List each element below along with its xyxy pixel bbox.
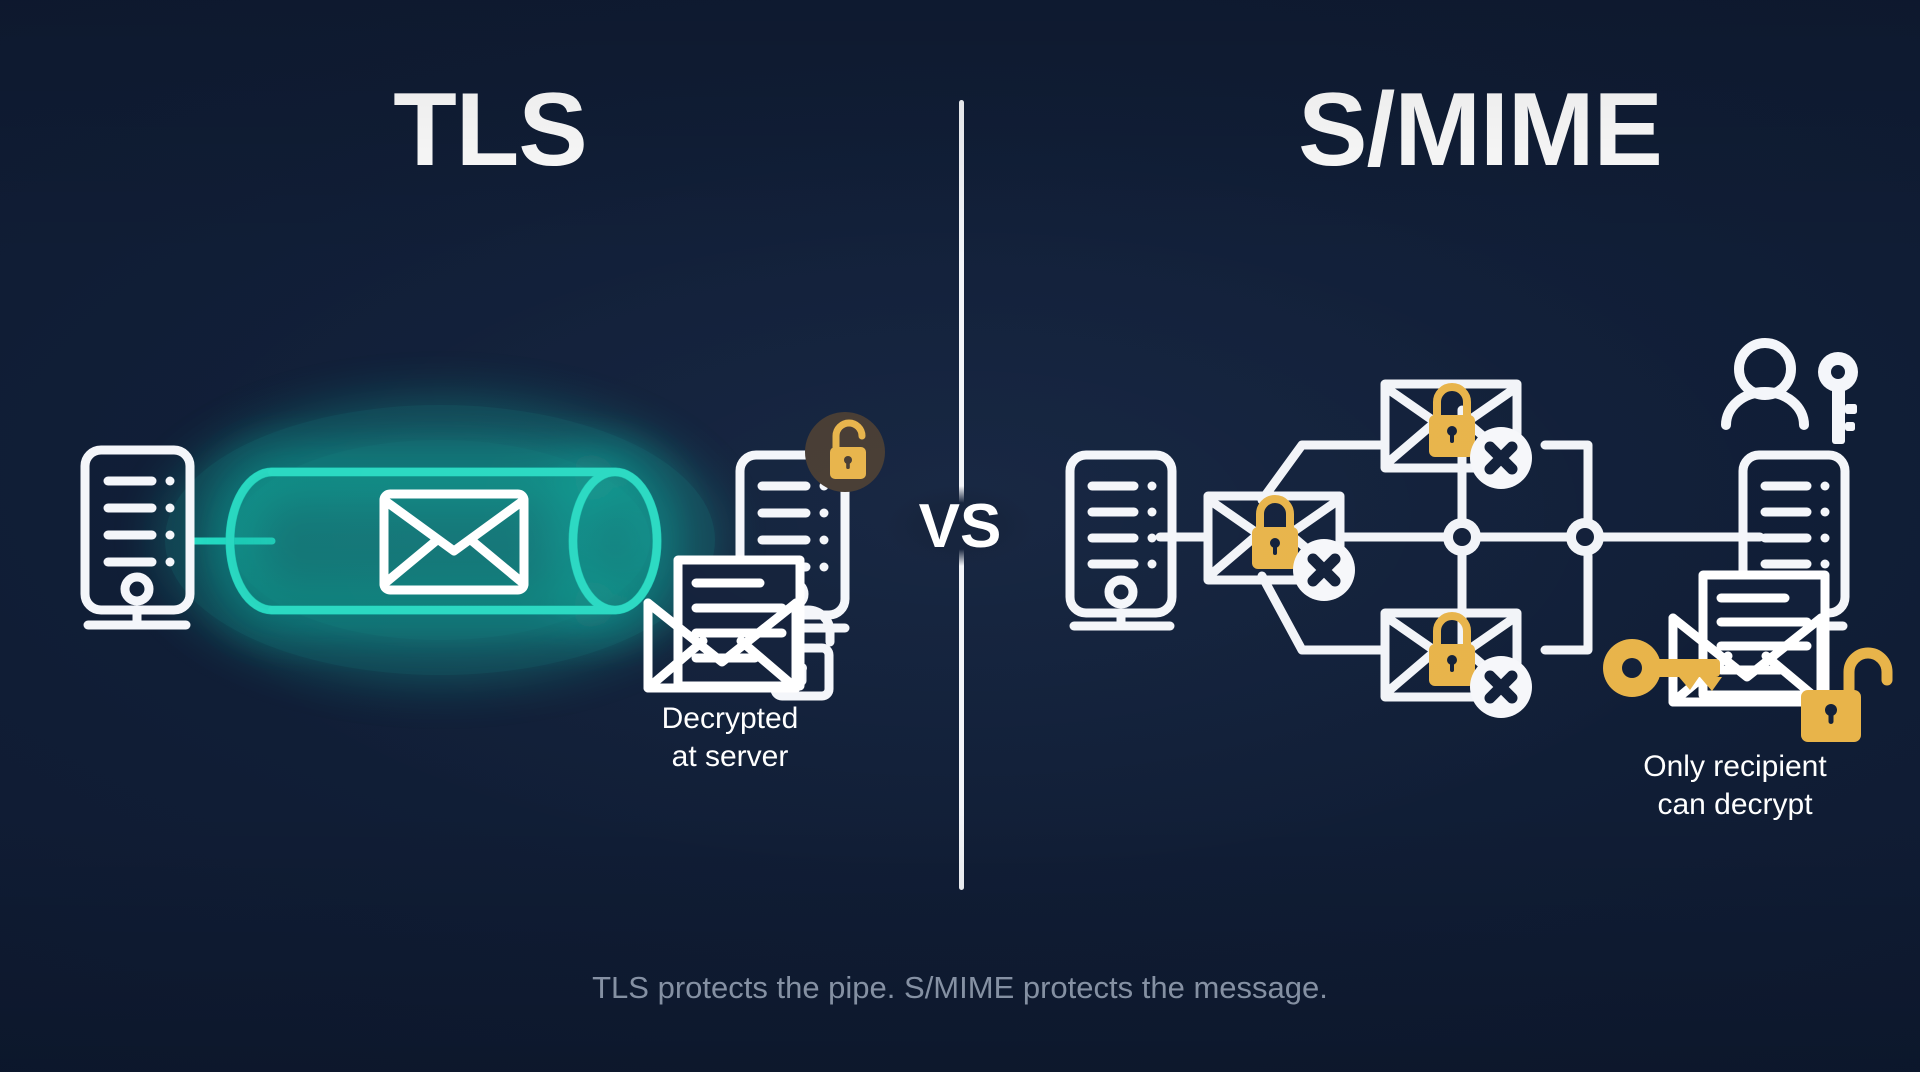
right-diagram-layer <box>0 0 1920 1072</box>
x-circle-icon <box>1293 539 1355 601</box>
network-node-icon <box>1566 518 1604 556</box>
person-icon <box>1726 343 1804 425</box>
x-circle-icon <box>1470 656 1532 718</box>
footer-note: TLS protects the pipe. S/MIME protects t… <box>0 970 1920 1006</box>
locked-envelope-icon <box>1208 496 1355 601</box>
network-node-icon <box>1443 518 1481 556</box>
smime-sender-server-icon <box>1070 455 1172 626</box>
infographic-canvas: TLS S/MIME VS <box>0 0 1920 1072</box>
x-circle-icon <box>1470 427 1532 489</box>
padlock-icon <box>1429 387 1475 457</box>
key-icon <box>1818 352 1858 444</box>
padlock-icon <box>1252 499 1298 569</box>
right-caption: Only recipient can decrypt <box>1520 748 1920 825</box>
padlock-icon <box>1429 616 1475 686</box>
recipient-open-envelope-icon <box>1673 575 1825 702</box>
